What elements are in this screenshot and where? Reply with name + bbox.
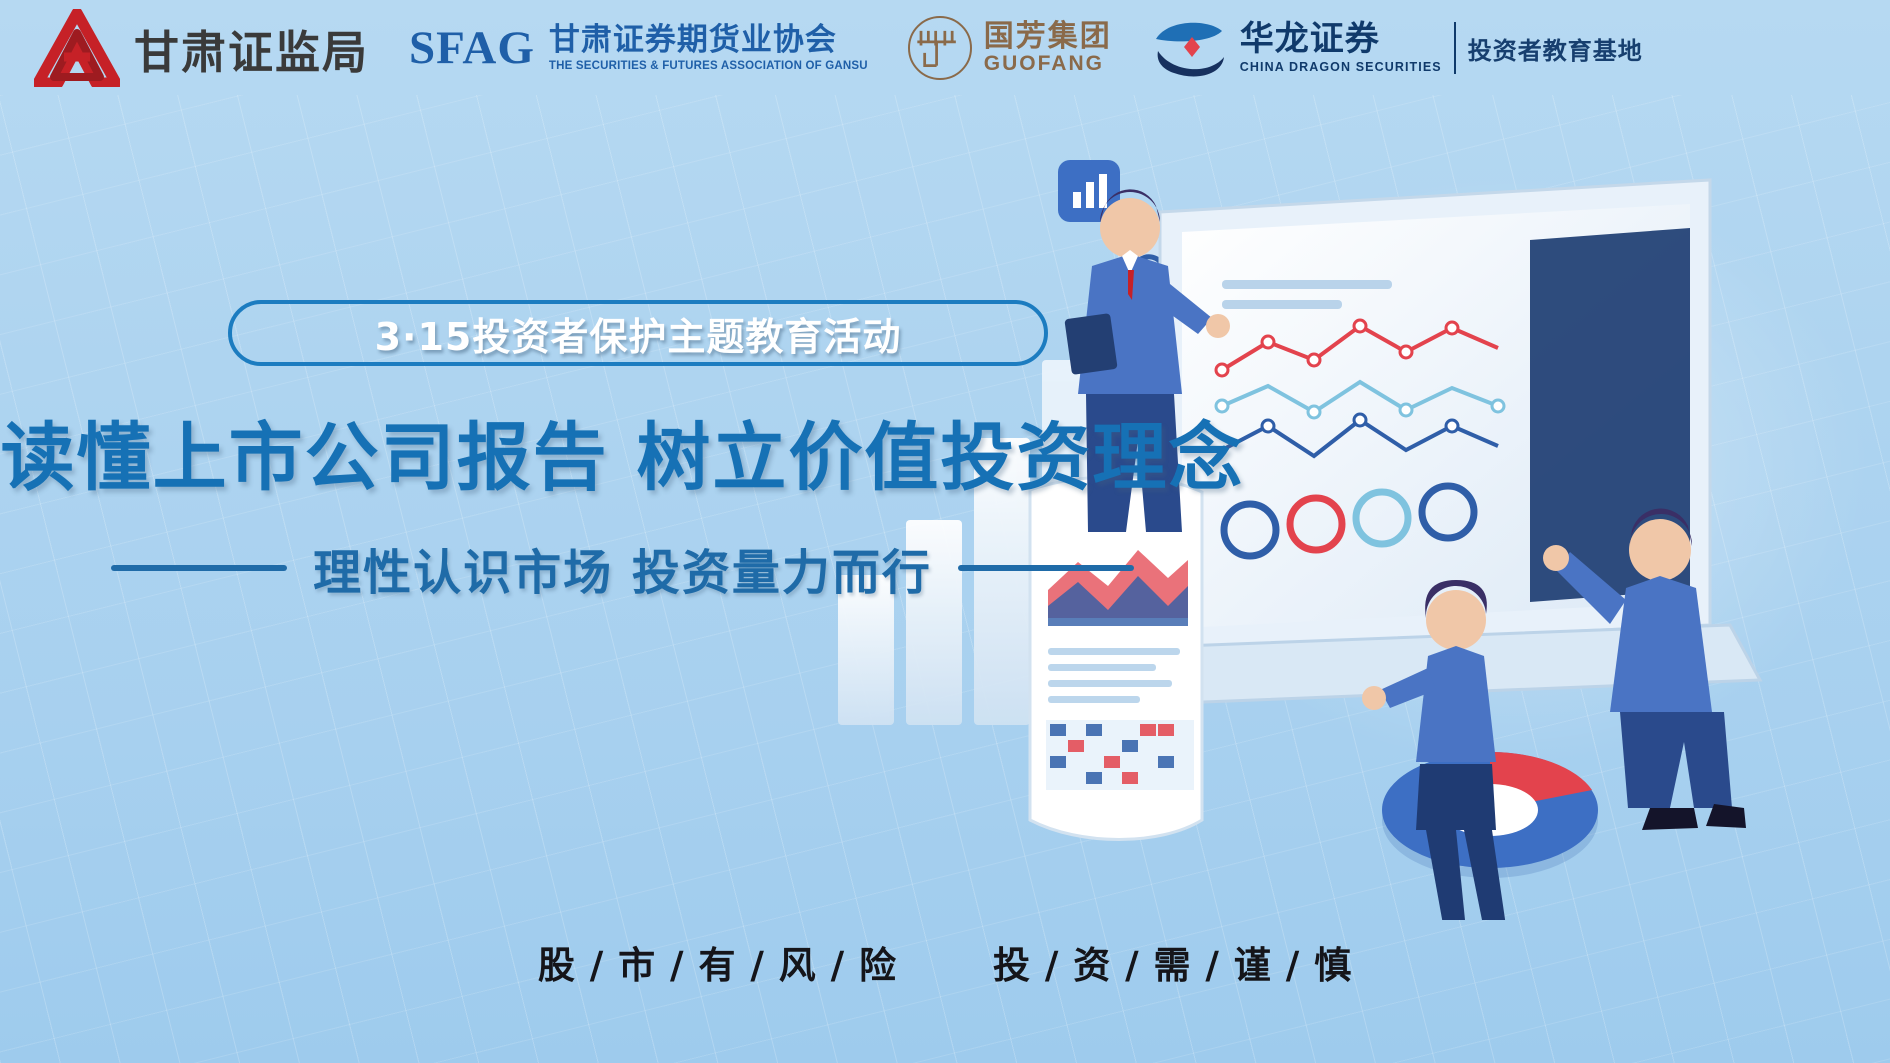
logo-china-dragon: 华龙证券 CHINA DRAGON SECURITIES 投资者教育基地 [1152, 17, 1643, 79]
logo-guofang-label-en: GUOFANG [984, 53, 1112, 75]
hero-headline-block: 3·15投资者保护主题教育活动 读懂上市公司报告 树立价值投资理念 理性认识市场… [0, 300, 1240, 603]
csrc-triangle-icon [34, 9, 120, 87]
footer-slogan-left: 股 / 市 / 有 / 风 / 险 [538, 935, 897, 989]
paper-heatmap [1046, 720, 1194, 790]
logo-sfag: SFAG 甘肃证券期货业协会 THE SECURITIES & FUTURES … [409, 21, 868, 75]
hero-subtitle-row: 理性认识市场 投资量力而行 [0, 533, 1245, 603]
rule-right [958, 565, 1134, 571]
china-dragon-wave-icon [1152, 17, 1228, 79]
footer-slogan-row: 股 / 市 / 有 / 风 / 险 投 / 资 / 需 / 谨 / 慎 [0, 935, 1890, 989]
logo-china-dragon-label-cn: 华龙证券 [1240, 22, 1442, 58]
campaign-badge-label: 3·15投资者保护主题教育活动 [375, 306, 902, 361]
logo-guofang: 国芳集团 GUOFANG [908, 16, 1112, 80]
logo-gansu-csrc: 甘肃证监局 [34, 9, 369, 87]
hero-title: 读懂上市公司报告 树立价值投资理念 [0, 398, 1245, 505]
logo-guofang-label-cn: 国芳集团 [984, 20, 1112, 53]
logo-gansu-csrc-label: 甘肃证监局 [134, 16, 369, 81]
logo-china-dragon-sublabel: 投资者教育基地 [1468, 31, 1643, 66]
logo-sfag-abbr: SFAG [409, 21, 535, 75]
guofang-circle-icon [908, 16, 972, 80]
logo-china-dragon-label-en: CHINA DRAGON SECURITIES [1240, 60, 1442, 74]
logo-sfag-label-cn: 甘肃证券期货业协会 [549, 24, 868, 57]
campaign-badge: 3·15投资者保护主题教育活动 [228, 300, 1048, 366]
footer-slogan-right: 投 / 资 / 需 / 谨 / 慎 [993, 935, 1352, 989]
partner-logo-bar: 甘肃证监局 SFAG 甘肃证券期货业协会 THE SECURITIES & FU… [0, 0, 1890, 96]
logo-sfag-label-en: THE SECURITIES & FUTURES ASSOCIATION OF … [549, 60, 868, 72]
promo-banner: 甘肃证监局 SFAG 甘肃证券期货业协会 THE SECURITIES & FU… [0, 0, 1890, 1063]
logo-divider [1454, 22, 1456, 74]
rule-left [111, 565, 287, 571]
hero-subtitle: 理性认识市场 投资量力而行 [313, 533, 932, 603]
